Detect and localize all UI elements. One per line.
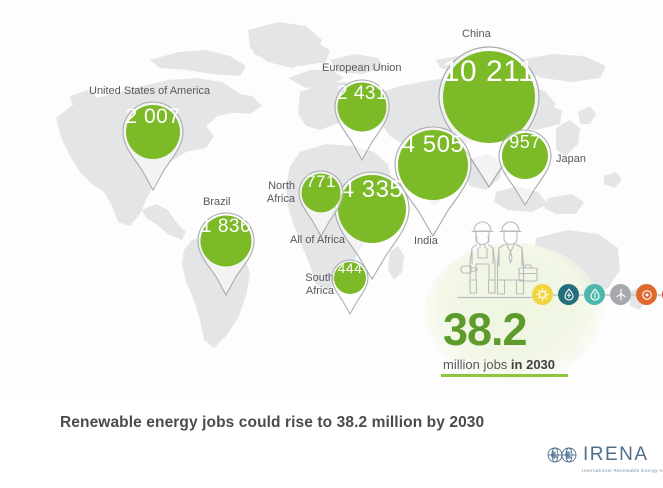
marker-value-south-africa: 444: [338, 261, 363, 275]
marker-usa[interactable]: 2 007: [120, 100, 186, 166]
irena-logo-wordmark: IRENA: [583, 444, 649, 466]
marker-value-usa: 2 007: [125, 106, 180, 127]
marker-value-all-of-africa: 4 335: [341, 178, 404, 202]
marker-label-japan: Japan: [556, 153, 586, 166]
irena-logo: IRENA International Renewable Energy Age…: [547, 444, 663, 473]
total-jobs-subtitle-prefix: million jobs: [443, 357, 511, 372]
marker-value-european-union: 2 431: [337, 84, 387, 103]
total-jobs-subtitle-year: in 2030: [511, 357, 555, 372]
total-jobs-number: 38.2: [443, 307, 527, 352]
worker-figures-svg: [452, 218, 544, 304]
wind-glyph: [615, 288, 627, 301]
marker-value-brazil: 1 836: [201, 217, 251, 236]
irena-logo-row: IRENA: [547, 444, 663, 466]
marker-south-africa[interactable]: 444: [330, 258, 370, 298]
marker-label-brazil: Brazil: [203, 196, 231, 209]
male-worker-with-briefcase: [498, 222, 524, 294]
marker-value-china: 10 211: [443, 57, 536, 87]
marker-label-china: China: [462, 28, 491, 41]
marker-label-usa: United States of America: [89, 85, 210, 98]
total-jobs-subtitle: million jobs in 2030: [443, 357, 555, 372]
stat-underline: [441, 374, 568, 377]
infographic-canvas: United States of America 2 007 Brazil 1 …: [0, 0, 663, 488]
solar-glyph: [536, 288, 549, 301]
caption-text: Renewable energy jobs could rise to 38.2…: [60, 414, 484, 432]
marker-label-south-africa: South Africa: [300, 272, 334, 297]
marker-value-north-africa: 771: [306, 173, 336, 190]
globe-icon: [547, 446, 577, 464]
marker-label-european-union: European Union: [322, 62, 402, 75]
hydropower-glyph: [589, 288, 601, 301]
renewable-technology-strip: [532, 284, 663, 305]
marker-label-north-africa: North Africa: [261, 180, 295, 205]
marker-north-africa[interactable]: 771: [297, 169, 345, 217]
marker-japan[interactable]: 957: [497, 128, 553, 184]
wrench-icon: [461, 266, 477, 273]
marker-value-india: 4 505: [402, 133, 465, 157]
briefcase-icon: [519, 265, 537, 281]
hydropower-icon[interactable]: [584, 284, 605, 305]
female-worker-with-wrench: [470, 222, 495, 293]
marker-value-japan: 957: [509, 133, 541, 151]
worker-illustration: [452, 218, 544, 309]
marker-european-union[interactable]: 2 431: [332, 78, 392, 138]
solar-icon[interactable]: [532, 284, 553, 305]
geothermal-icon[interactable]: [558, 284, 579, 305]
geothermal-glyph: [563, 288, 575, 301]
irena-logo-tagline: International Renewable Energy Agency: [582, 468, 663, 473]
bioenergy-icon[interactable]: [636, 284, 657, 305]
marker-brazil[interactable]: 1 836: [195, 211, 257, 273]
bioenergy-glyph: [641, 289, 653, 301]
wind-icon[interactable]: [610, 284, 631, 305]
